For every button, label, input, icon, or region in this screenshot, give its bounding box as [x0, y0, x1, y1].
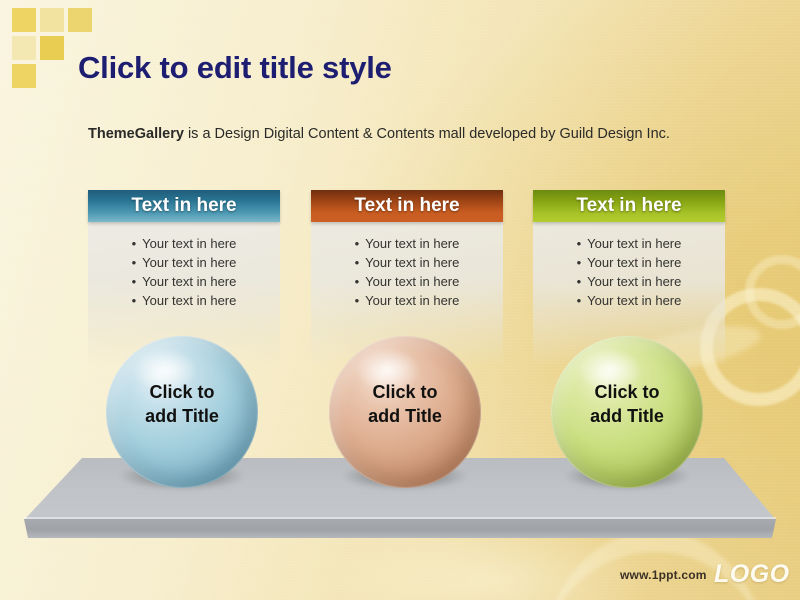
- list-item[interactable]: Your text in here: [88, 253, 280, 272]
- slide-canvas: Click to edit title style ThemeGallery i…: [0, 0, 800, 600]
- sphere-label-line: Click to: [106, 380, 258, 404]
- list-item[interactable]: Your text in here: [533, 253, 725, 272]
- decorative-square: [40, 36, 64, 60]
- column-header-1[interactable]: Text in here: [88, 190, 280, 222]
- sphere-3[interactable]: Click to add Title: [551, 336, 703, 488]
- footer-logo: LOGO: [714, 560, 790, 589]
- bullet-list-3: Your text in here Your text in here Your…: [533, 234, 725, 310]
- list-item[interactable]: Your text in here: [311, 234, 503, 253]
- footer-url[interactable]: www.1ppt.com: [620, 568, 707, 582]
- list-item[interactable]: Your text in here: [88, 291, 280, 310]
- decorative-square: [12, 8, 36, 32]
- column-header-3[interactable]: Text in here: [533, 190, 725, 222]
- list-item[interactable]: Your text in here: [88, 234, 280, 253]
- bullet-list-1: Your text in here Your text in here Your…: [88, 234, 280, 310]
- list-item[interactable]: Your text in here: [311, 272, 503, 291]
- list-item[interactable]: Your text in here: [533, 272, 725, 291]
- sphere-label-1[interactable]: Click to add Title: [106, 380, 258, 428]
- sphere-label-line: add Title: [329, 404, 481, 428]
- decorative-square: [12, 64, 36, 88]
- intro-rest: is a Design Digital Content & Contents m…: [184, 126, 670, 142]
- sphere-label-line: add Title: [106, 404, 258, 428]
- podium-edge-highlight: [24, 517, 776, 519]
- sphere-label-2[interactable]: Click to add Title: [329, 380, 481, 428]
- list-item[interactable]: Your text in here: [533, 291, 725, 310]
- list-item[interactable]: Your text in here: [311, 253, 503, 272]
- sphere-label-3[interactable]: Click to add Title: [551, 380, 703, 428]
- sphere-label-line: Click to: [551, 380, 703, 404]
- list-item[interactable]: Your text in here: [533, 234, 725, 253]
- slide-title-placeholder[interactable]: Click to edit title style: [78, 50, 392, 86]
- list-item[interactable]: Your text in here: [311, 291, 503, 310]
- intro-brand: ThemeGallery: [88, 126, 184, 142]
- decorative-square: [12, 36, 36, 60]
- column-header-2[interactable]: Text in here: [311, 190, 503, 222]
- bullet-list-2: Your text in here Your text in here Your…: [311, 234, 503, 310]
- decorative-square: [68, 8, 92, 32]
- sphere-label-line: Click to: [329, 380, 481, 404]
- sphere-1[interactable]: Click to add Title: [106, 336, 258, 488]
- podium-front-face: [24, 519, 776, 538]
- list-item[interactable]: Your text in here: [88, 272, 280, 291]
- intro-paragraph[interactable]: ThemeGallery is a Design Digital Content…: [88, 124, 708, 145]
- background-watermark-ring-small: [745, 255, 800, 329]
- sphere-label-line: add Title: [551, 404, 703, 428]
- decorative-square: [40, 8, 64, 32]
- sphere-2[interactable]: Click to add Title: [329, 336, 481, 488]
